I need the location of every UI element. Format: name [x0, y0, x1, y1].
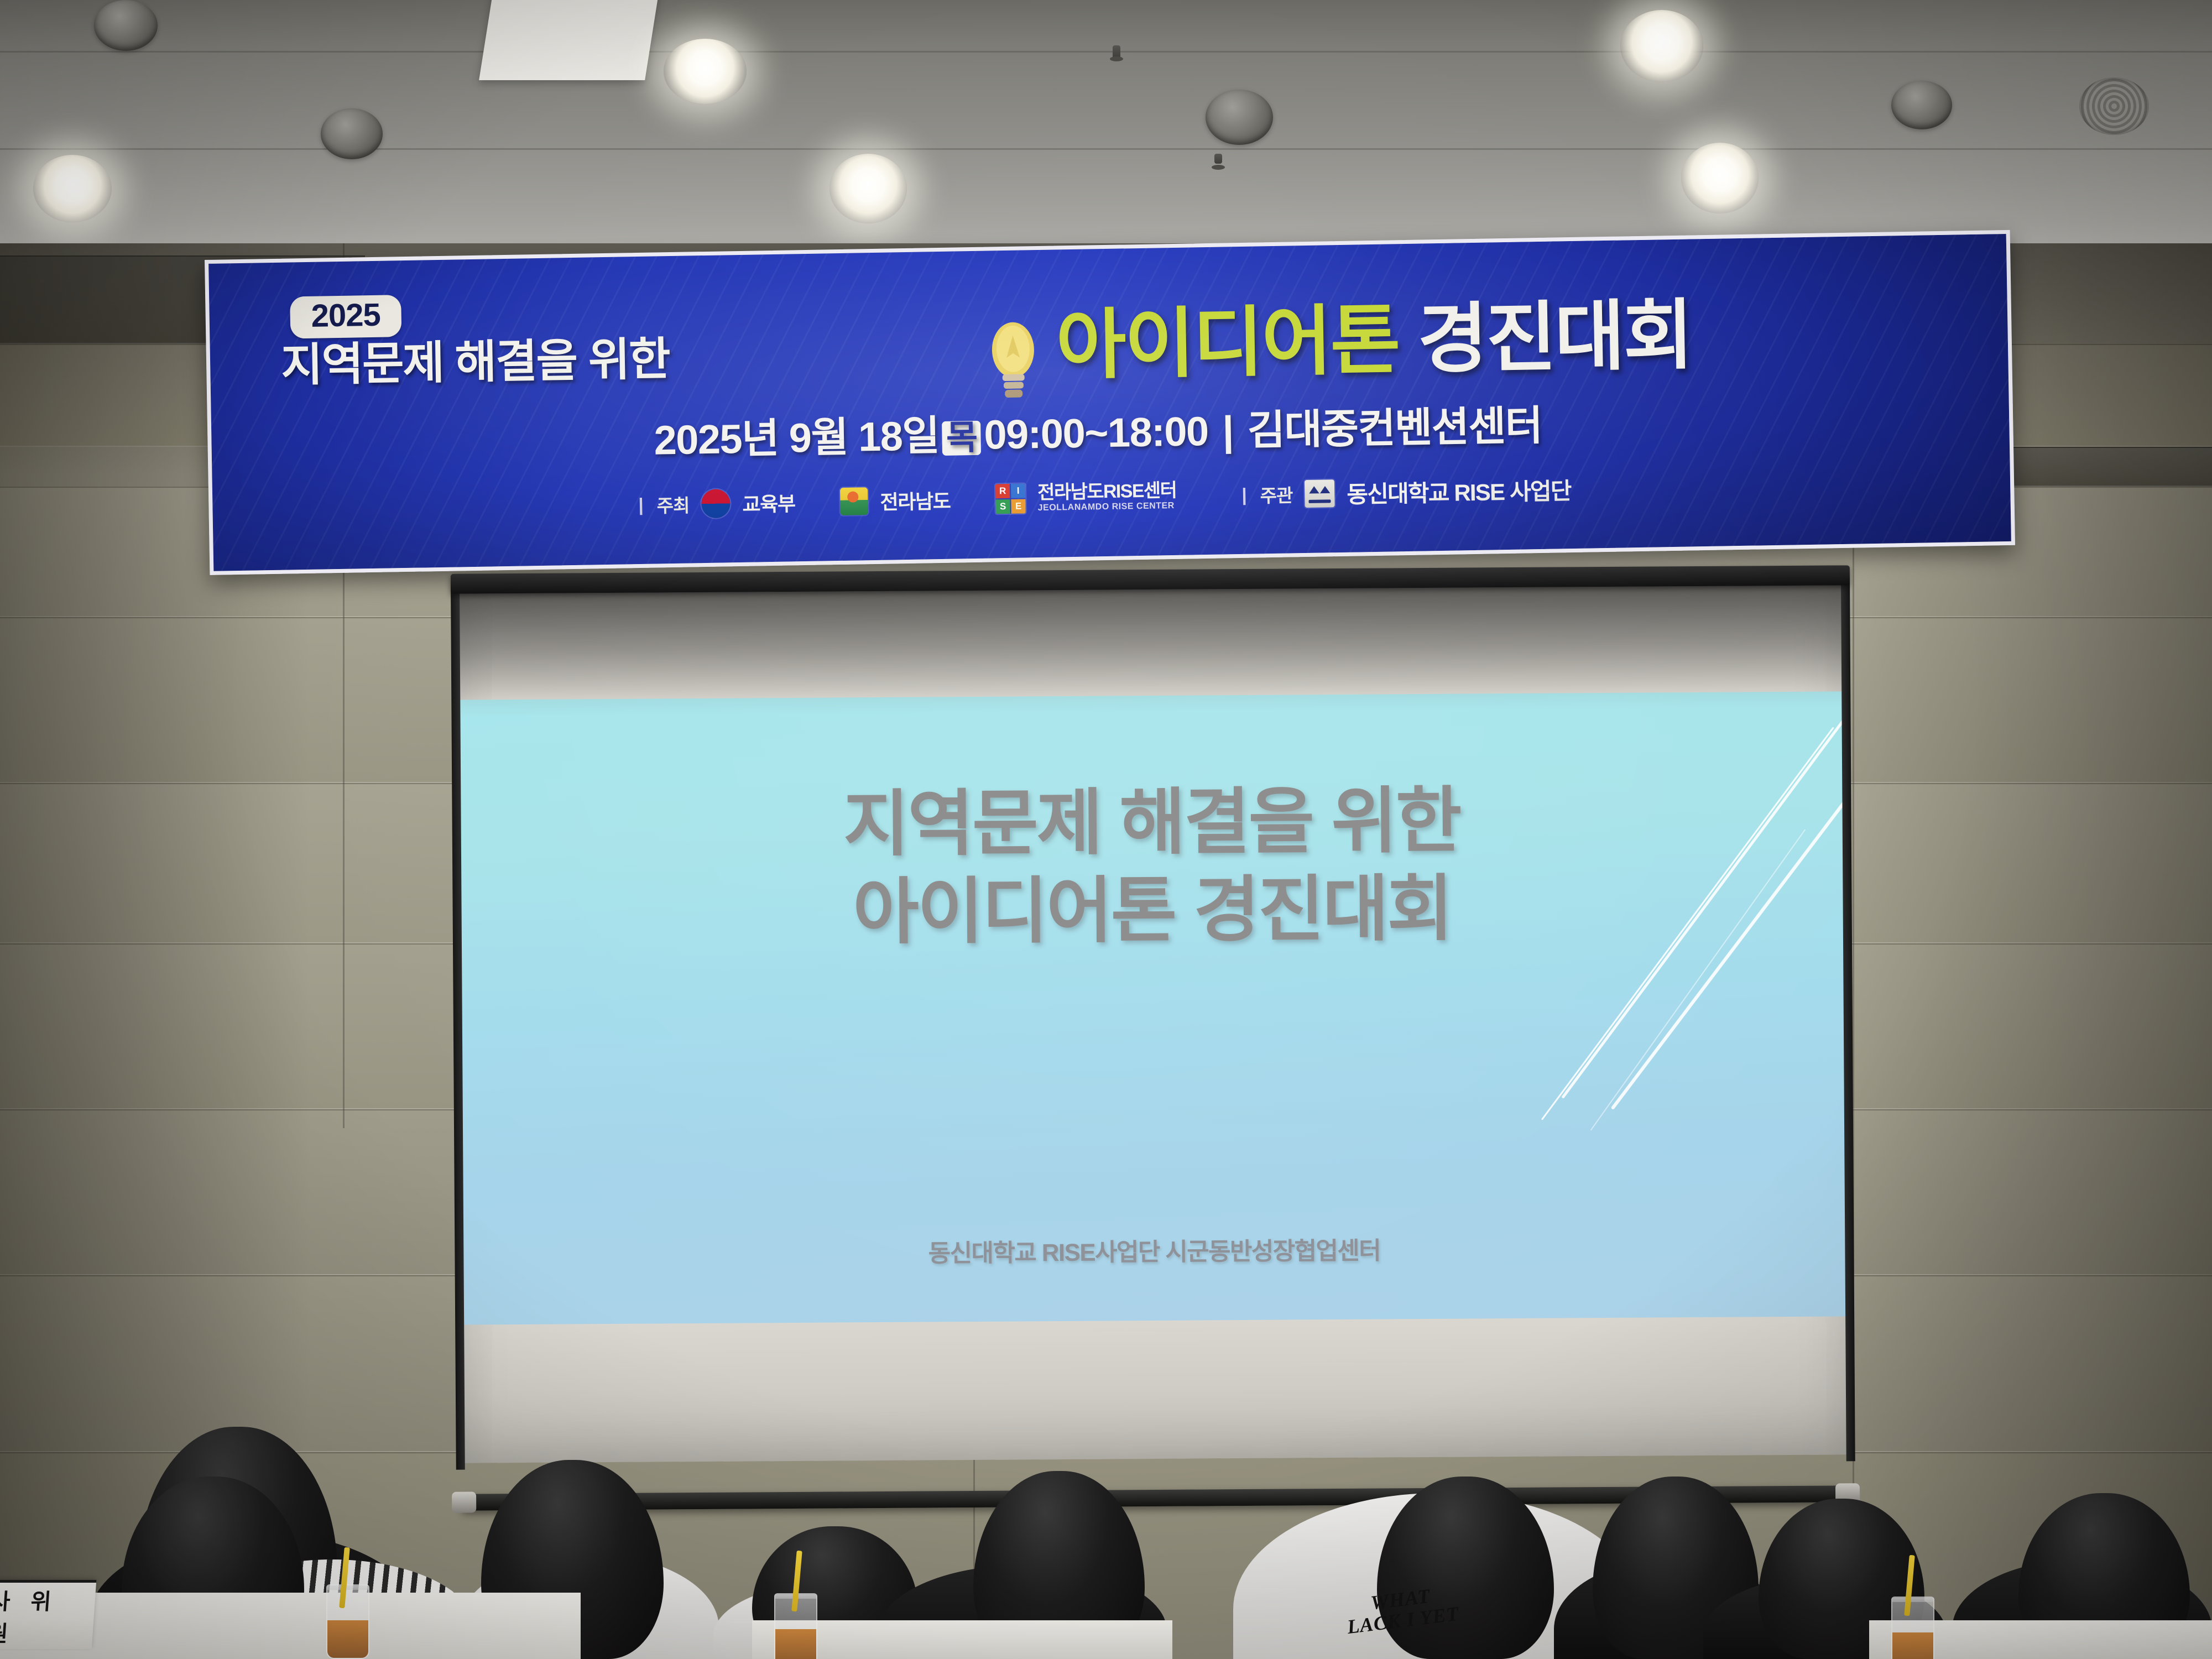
audience-foreground: 사 위 원 WHAT LACK I YET: [0, 1371, 2212, 1659]
ceiling-downlight: [664, 39, 747, 104]
projection-screen: 지역문제 해결을 위한 아이디어톤 경진대회 동신대학교 RISE사업단 시군동…: [451, 565, 1855, 1503]
banner-title-line1: 지역문제 해결을 위한: [281, 337, 670, 389]
rise-letter-s: S: [995, 499, 1010, 513]
cup-lid: [326, 1584, 369, 1590]
slide-title-line1: 지역문제 해결을 위한: [460, 774, 1844, 870]
cup-liquid: [1892, 1632, 1933, 1659]
ceiling-downlight: [33, 155, 112, 222]
slide-title-line2: 아이디어톤 경진대회: [460, 862, 1844, 958]
host-label: 주최: [656, 491, 690, 518]
banner-venue-separator: |: [1222, 408, 1234, 453]
cup-lid: [1891, 1597, 1934, 1602]
presentation-slide: 지역문제 해결을 위한 아이디어톤 경진대회 동신대학교 RISE사업단 시군동…: [459, 691, 1846, 1324]
ceiling-speaker: [321, 108, 383, 159]
host-org-province: 전라남도: [880, 485, 951, 515]
host-bar-icon: |: [638, 494, 644, 515]
host-org-education: 교육부: [742, 488, 795, 518]
banner-datetime-line: 2025년 9월 18일목09:00~18:00|김대중컨벤션센터: [654, 405, 1542, 461]
jeollanamdo-logo-icon: [840, 487, 868, 515]
banner-title-accent: 아이디어톤: [1056, 298, 1400, 388]
rise-letter-e: E: [1011, 499, 1025, 513]
ceiling-downlight: [1620, 10, 1703, 82]
banner-time: 09:00~18:00: [984, 408, 1209, 458]
judge-name-card-text: 사 위 원: [0, 1584, 96, 1648]
rise-center-logo-icon: R I S E: [995, 483, 1026, 514]
cup-liquid: [327, 1620, 368, 1658]
rise-letter-i: I: [1011, 483, 1025, 498]
banner-day-of-week: 목: [942, 421, 981, 456]
conference-hall-photo: 2025 지역문제 해결을 위한 아이디어톤경진대회 2025년 9월 18일목…: [0, 0, 2212, 1659]
organizer-bar-icon: |: [1241, 484, 1247, 505]
sprinkler-head: [1113, 45, 1120, 60]
organizer-org-name: 동신대학교 RISE 사업단: [1347, 472, 1571, 510]
banner-title-plain: 경진대회: [1417, 293, 1692, 382]
ceiling-vent-panel: [479, 0, 660, 80]
sprinkler-head: [1214, 154, 1222, 164]
ceiling-speaker: [1891, 81, 1952, 129]
rise-center-name-kr: 전라남도RISE센터: [1037, 481, 1177, 502]
banner-venue: 김대중컨벤션센터: [1247, 403, 1542, 453]
banner-year-badge: 2025: [290, 295, 401, 338]
ceiling: [0, 0, 2212, 260]
slide-title: 지역문제 해결을 위한 아이디어톤 경진대회: [460, 774, 1844, 958]
organizer-label: 주관: [1260, 481, 1293, 508]
banner-sponsor-row: | 주최 교육부 전라남도 R I S E 전라남도RISE센터 JEOLLAN…: [638, 472, 1571, 521]
lightbulb-icon: [989, 321, 1037, 404]
cup-liquid: [775, 1629, 816, 1659]
iced-drink-cup[interactable]: [326, 1584, 369, 1659]
ceiling-downlight: [1681, 143, 1759, 213]
rise-letter-r: R: [995, 483, 1010, 498]
event-banner: 2025 지역문제 해결을 위한 아이디어톤경진대회 2025년 9월 18일목…: [205, 230, 2015, 575]
ministry-of-education-logo-icon: [701, 489, 731, 518]
banner-lighting-overlay: [208, 234, 2011, 571]
iced-drink-cup[interactable]: [1891, 1597, 1934, 1659]
ceiling-air-diffuser: [2079, 77, 2149, 135]
ceiling-speaker: [94, 0, 158, 51]
screen-surface: 지역문제 해결을 위한 아이디어톤 경진대회 동신대학교 RISE사업단 시군동…: [458, 581, 1848, 1463]
ceiling-downlight: [830, 154, 907, 223]
dongshin-university-logo-icon: [1305, 479, 1335, 508]
banner-date: 2025년 9월 18일: [654, 413, 940, 463]
banner-title-main: 아이디어톤경진대회: [1056, 297, 1693, 384]
judge-name-card: 사 위 원: [0, 1580, 96, 1649]
rise-center-name-en: JEOLLANAMDO RISE CENTER: [1038, 502, 1177, 513]
rise-center-name-block: 전라남도RISE센터 JEOLLANAMDO RISE CENTER: [1037, 481, 1177, 513]
ceiling-speaker: [1206, 90, 1273, 145]
